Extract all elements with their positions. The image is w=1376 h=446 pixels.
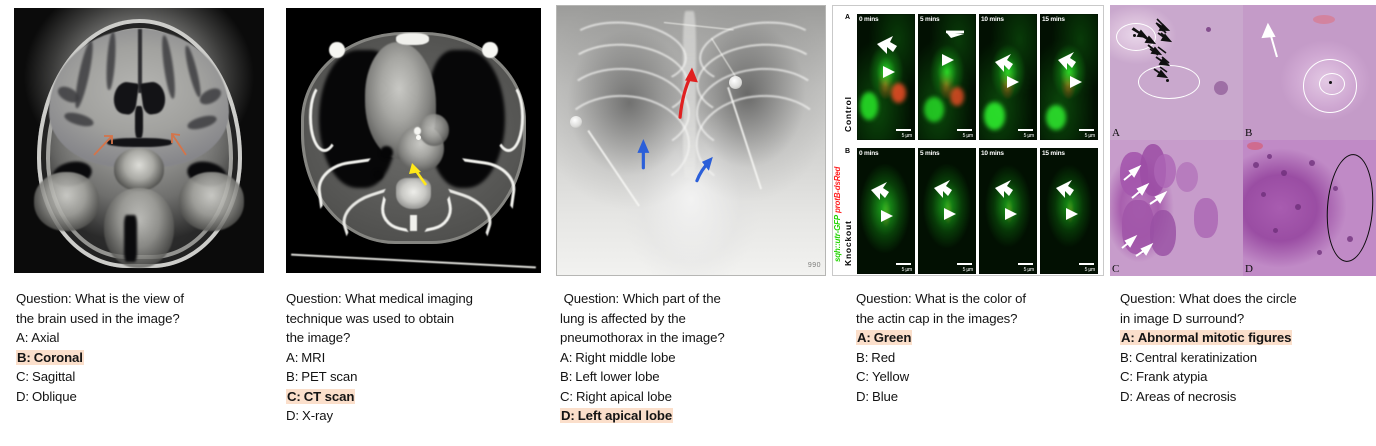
option-text: Areas of necrosis xyxy=(1136,389,1236,404)
histology-letter-d: D xyxy=(1245,263,1253,275)
question-line: in image D surround? xyxy=(1120,309,1376,329)
histology-letter-c: C xyxy=(1112,263,1119,275)
scale-bar-label: 5 µm xyxy=(1085,133,1095,139)
scale-bar-label: 5 µm xyxy=(963,267,973,273)
option-key: B: xyxy=(286,369,298,384)
scale-bar-label: 5 µm xyxy=(1085,267,1095,273)
question-line: Question: Which part of the xyxy=(560,289,832,309)
figure-column-3: 990 Question: Which part of the lung is … xyxy=(556,0,832,446)
option-d[interactable]: D:Left apical lobe xyxy=(560,406,832,426)
option-b[interactable]: B:Central keratinization xyxy=(1120,348,1376,368)
option-key: D: xyxy=(16,389,29,404)
option-key: C: xyxy=(16,369,29,384)
option-text: Central keratinization xyxy=(1135,350,1257,365)
histology-panel-c: C xyxy=(1110,140,1243,276)
question-line: Question: What is the view of xyxy=(16,289,276,309)
option-d[interactable]: D:Areas of necrosis xyxy=(1120,387,1376,407)
option-text: Red xyxy=(871,350,895,365)
option-b[interactable]: B:PET scan xyxy=(286,367,554,387)
option-key: A: xyxy=(560,350,572,365)
option-text: CT scan xyxy=(304,389,355,404)
option-text: Green xyxy=(874,330,912,345)
figure-column-5: A B xyxy=(1110,0,1376,446)
histology-panel-d: D xyxy=(1243,140,1376,276)
question-line: the actin cap in the images? xyxy=(856,309,1106,329)
option-d[interactable]: D:Oblique xyxy=(16,387,276,407)
question-line: Question: What medical imaging xyxy=(286,289,554,309)
option-text: Abnormal mitotic figures xyxy=(1138,330,1292,345)
chest-ct-image xyxy=(286,8,541,273)
option-d[interactable]: D:X-ray xyxy=(286,406,554,426)
option-key: B: xyxy=(1120,350,1132,365)
option-key: B: xyxy=(560,369,572,384)
panel-letter-b: B xyxy=(845,148,850,155)
option-key: A: xyxy=(16,330,28,345)
option-c[interactable]: C:Frank atypia xyxy=(1120,367,1376,387)
option-d[interactable]: D:Blue xyxy=(856,387,1106,407)
histology-letter-a: A xyxy=(1112,127,1120,139)
option-a[interactable]: A:Axial xyxy=(16,328,276,348)
question-line: Question: What does the circle xyxy=(1120,289,1376,309)
brain-mri-image xyxy=(14,8,264,273)
qa-block-3: Question: Which part of the lung is affe… xyxy=(560,289,832,426)
question-line: technique was used to obtain xyxy=(286,309,554,329)
scale-bar-label: 5 µm xyxy=(963,133,973,139)
option-a[interactable]: A:Green xyxy=(856,328,1106,348)
option-text: Coronal xyxy=(34,350,83,365)
option-text: X-ray xyxy=(302,408,333,423)
option-key: B: xyxy=(856,350,868,365)
option-b[interactable]: B:Red xyxy=(856,348,1106,368)
option-c[interactable]: C:CT scan xyxy=(286,387,554,407)
histology-letter-b: B xyxy=(1245,127,1252,139)
option-b[interactable]: B:Left lower lobe xyxy=(560,367,832,387)
option-key: D: xyxy=(1120,389,1133,404)
option-text: Oblique xyxy=(32,389,77,404)
option-text: Left apical lobe xyxy=(578,408,672,423)
option-key: A: xyxy=(1121,330,1135,345)
option-key: D: xyxy=(856,389,869,404)
scale-bar-label: 5 µm xyxy=(1024,133,1034,139)
timelapse-tile: 10 mins 5 µm xyxy=(979,14,1037,140)
timelapse-tile: 15 mins 5 µm xyxy=(1040,148,1098,274)
option-c[interactable]: C:Sagittal xyxy=(16,367,276,387)
question-line: the brain used in the image? xyxy=(16,309,276,329)
option-key: D: xyxy=(561,408,575,423)
option-key: C: xyxy=(287,389,301,404)
question-line: the image? xyxy=(286,328,554,348)
panel-letter-a: A xyxy=(845,14,850,21)
qa-block-2: Question: What medical imaging technique… xyxy=(286,289,554,426)
option-c[interactable]: C:Right apical lobe xyxy=(560,387,832,407)
figure-column-2: Question: What medical imaging technique… xyxy=(280,0,556,446)
histology-panel-b: B xyxy=(1243,5,1376,140)
option-text: MRI xyxy=(301,350,325,365)
figure-column-4: sqh::utr-GFP protB-dsRed A B Control Kno… xyxy=(832,0,1110,446)
option-key: C: xyxy=(856,369,869,384)
timelapse-tile: 0 mins 5 µm xyxy=(857,148,915,274)
option-c[interactable]: C:Yellow xyxy=(856,367,1106,387)
option-text: Left lower lobe xyxy=(575,369,659,384)
timelapse-tile: 5 mins 5 µm xyxy=(918,14,976,140)
xray-arrow-annotations xyxy=(557,6,825,275)
option-a[interactable]: A:Abnormal mitotic figures xyxy=(1120,328,1376,348)
figure-page: Question: What is the view of the brain … xyxy=(0,0,1376,446)
option-key: C: xyxy=(1120,369,1133,384)
qa-block-1: Question: What is the view of the brain … xyxy=(16,289,276,406)
fluorescence-timelapse-image: sqh::utr-GFP protB-dsRed A B Control Kno… xyxy=(832,5,1104,276)
option-key: A: xyxy=(857,330,871,345)
histology-panel-a: A xyxy=(1110,5,1243,140)
option-text: Right apical lobe xyxy=(576,389,672,404)
chest-xray-image: 990 xyxy=(556,5,826,276)
question-line: lung is affected by the xyxy=(560,309,832,329)
option-key: B: xyxy=(17,350,31,365)
timelapse-tile: 10 mins 5 µm xyxy=(979,148,1037,274)
option-b[interactable]: B:Coronal xyxy=(16,348,276,368)
option-key: C: xyxy=(560,389,573,404)
row-label-knockout: Knockout xyxy=(844,170,853,266)
option-text: Axial xyxy=(31,330,59,345)
row-label-control: Control xyxy=(844,36,853,132)
qa-block-5: Question: What does the circle in image … xyxy=(1120,289,1376,406)
scale-bar-label: 5 µm xyxy=(902,133,912,139)
mri-arrow-annotations xyxy=(14,8,264,273)
highlight-ellipse-mitotic-figures xyxy=(1323,153,1376,264)
gene-label-red: protB-dsRed xyxy=(833,167,842,215)
option-text: Frank atypia xyxy=(1136,369,1207,384)
option-text: Sagittal xyxy=(32,369,75,384)
timelapse-tile: 0 mins 5 µm xyxy=(857,14,915,140)
qa-block-4: Question: What is the color of the actin… xyxy=(856,289,1106,406)
scale-bar-label: 5 µm xyxy=(902,267,912,273)
gene-label-green: sqh::utr-GFP xyxy=(833,215,842,262)
ct-arrow-annotation xyxy=(286,8,541,273)
option-key: D: xyxy=(286,408,299,423)
histopathology-image: A B xyxy=(1110,5,1376,276)
scale-bar-label: 5 µm xyxy=(1024,267,1034,273)
timelapse-tile: 15 mins 5 µm xyxy=(1040,14,1098,140)
option-text: Blue xyxy=(872,389,898,404)
question-line: pneumothorax in the image? xyxy=(560,328,832,348)
option-a[interactable]: A:Right middle lobe xyxy=(560,348,832,368)
option-a[interactable]: A:MRI xyxy=(286,348,554,368)
option-text: PET scan xyxy=(301,369,357,384)
option-text: Yellow xyxy=(872,369,909,384)
option-key: A: xyxy=(286,350,298,365)
gene-construct-label: sqh::utr-GFP protB-dsRed xyxy=(834,22,842,262)
question-line: Question: What is the color of xyxy=(856,289,1106,309)
timelapse-tile: 5 mins 5 µm xyxy=(918,148,976,274)
option-text: Right middle lobe xyxy=(575,350,675,365)
figure-column-1: Question: What is the view of the brain … xyxy=(0,0,280,446)
